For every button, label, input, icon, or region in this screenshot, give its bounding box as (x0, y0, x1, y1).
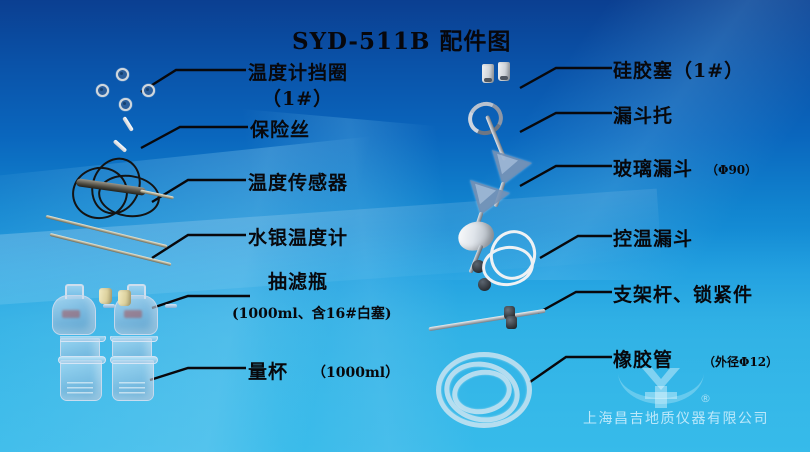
part-measuring-cup-back (60, 336, 178, 356)
registered-mark: ® (700, 392, 711, 405)
company-name: 上海昌吉地质仪器有限公司 (583, 408, 769, 428)
label-measuring-cup-sub: （1000ml） (312, 362, 399, 382)
leader-line-support-rod (538, 292, 612, 313)
part-fuse (108, 118, 158, 160)
part-filter-flask (52, 278, 182, 340)
part-support-rod (428, 300, 548, 330)
label-mercury-thermometer: 水银温度计 (248, 223, 348, 250)
label-temp-control-funnel: 控温漏斗 (613, 224, 693, 251)
accessory-diagram-page: SYD-511B 配件图 (0, 0, 810, 452)
part-thermometer-ring (92, 62, 164, 104)
label-glass-funnel-sub: （Φ90） (706, 161, 757, 178)
label-filter-flask-sub: (1000ml、含16#白塞) (232, 303, 392, 323)
part-silicone-stopper (482, 62, 522, 88)
leader-line-silicone-stopper (520, 68, 612, 88)
label-rubber-tube-sub: （外径Φ12） (703, 353, 778, 370)
part-temp-sensor (58, 155, 168, 227)
part-measuring-cup (56, 352, 176, 408)
label-filter-flask: 抽滤瓶 (268, 267, 328, 294)
label-thermometer-ring-sub: （1#） (262, 84, 333, 111)
part-temp-control-funnel (452, 222, 552, 294)
leader-line-rubber-tube (530, 357, 612, 382)
label-silicone-stopper: 硅胶塞（1#） (613, 56, 744, 83)
label-funnel-holder: 漏斗托 (613, 101, 673, 128)
label-glass-funnel: 玻璃漏斗 (613, 154, 693, 181)
label-fuse: 保险丝 (250, 115, 310, 142)
label-support-rod: 支架杆、锁紧件 (613, 280, 753, 307)
label-temp-sensor: 温度传感器 (248, 168, 348, 195)
part-mercury-thermometer (44, 220, 174, 280)
label-measuring-cup: 量杯 (248, 357, 288, 384)
part-rubber-tube (436, 348, 536, 428)
label-thermometer-ring: 温度计挡圈 (248, 58, 348, 85)
